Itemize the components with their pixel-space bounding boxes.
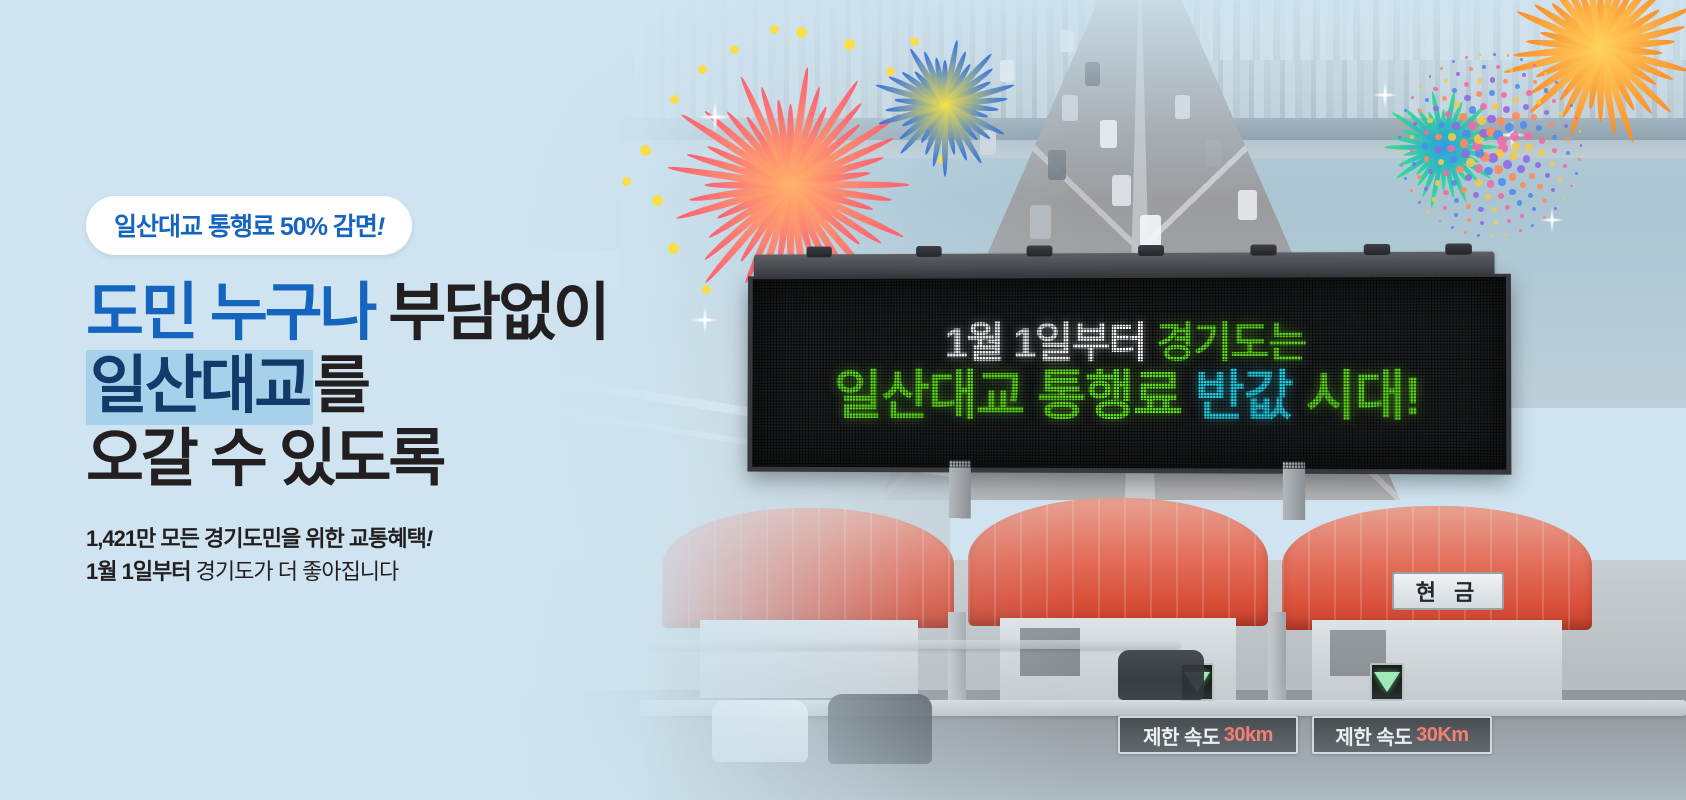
halftone-dot bbox=[1418, 201, 1421, 204]
headline-line-1-blue: 도민 누구나 bbox=[86, 278, 388, 348]
subcopy: 1,421만 모든 경기도민을 위한 교통혜택! 1월 1일부터 경기도가 더 … bbox=[86, 522, 706, 588]
headline-line-2: 일산대교를 bbox=[86, 350, 706, 423]
halftone-dot bbox=[1539, 137, 1545, 143]
page-title: 도민 누구나 부담없이 일산대교를 오갈 수 있도록 bbox=[86, 277, 706, 496]
halftone-dot bbox=[1555, 81, 1558, 84]
halftone-dot bbox=[1475, 179, 1483, 187]
halftone-dot bbox=[1422, 143, 1427, 148]
halftone-dot bbox=[1550, 161, 1555, 166]
halftone-dot bbox=[1464, 95, 1470, 101]
halftone-dot bbox=[1512, 112, 1520, 120]
halftone-dot bbox=[1503, 160, 1512, 169]
halftone-dot bbox=[1519, 229, 1522, 232]
promo-banner: 현 금 제한 속도 30km 제한 속도 30Km 일산대교 통행료 50% 감… bbox=[0, 0, 1686, 800]
halftone-dot bbox=[1497, 117, 1506, 126]
subcopy-line-2-rest: 경기도가 더 좋아집니다 bbox=[191, 559, 399, 584]
halftone-dot bbox=[1427, 118, 1432, 123]
headline-highlight-bridge: 일산대교 bbox=[86, 350, 313, 425]
billboard-lamp bbox=[806, 246, 831, 257]
halftone-dot bbox=[1475, 164, 1484, 173]
halftone-dot bbox=[1505, 123, 1514, 132]
headline-line-1-ink: 부담없이 bbox=[388, 278, 607, 348]
halftone-dot bbox=[1435, 180, 1440, 185]
promo-badge: 일산대교 통행료 50% 감면! bbox=[86, 196, 412, 255]
headline-line-2-particle: 를 bbox=[313, 351, 368, 421]
halftone-dot bbox=[1465, 56, 1468, 59]
halftone-dot bbox=[1522, 73, 1526, 77]
halftone-dot bbox=[1466, 158, 1475, 167]
halftone-dot bbox=[1525, 144, 1533, 152]
halftone-dot bbox=[1438, 159, 1444, 165]
billboard-screen: 1월 1일부터 경기도는 일산대교 통행료 반값 시대! bbox=[747, 274, 1511, 475]
halftone-dot bbox=[1461, 149, 1470, 158]
halftone-dot bbox=[1435, 134, 1441, 140]
halftone-dot bbox=[1451, 226, 1454, 229]
halftone-dot bbox=[1559, 111, 1563, 115]
billboard-line-1-green: 경기도는 bbox=[1156, 319, 1306, 366]
halftone-dot bbox=[1564, 124, 1568, 128]
subcopy-line-2: 1월 1일부터 경기도가 더 좋아집니다 bbox=[86, 555, 706, 588]
subcopy-line-1-emphasis: ! bbox=[426, 526, 432, 551]
headline-line-3: 오갈 수 있도록 bbox=[86, 423, 706, 496]
halftone-dot bbox=[1443, 190, 1448, 195]
halftone-dot bbox=[1529, 173, 1535, 179]
confetti-dot bbox=[910, 37, 919, 46]
halftone-dot bbox=[1517, 165, 1525, 173]
halftone-dot bbox=[1493, 53, 1496, 56]
halftone-dot bbox=[1512, 142, 1521, 151]
halftone-dot bbox=[1419, 85, 1422, 88]
halftone-dot bbox=[1517, 200, 1522, 205]
halftone-dot bbox=[1468, 121, 1477, 130]
halftone-dot bbox=[1538, 150, 1544, 156]
billboard-lamp bbox=[1138, 245, 1164, 256]
confetti-dot bbox=[622, 177, 631, 186]
halftone-dot bbox=[1520, 58, 1523, 61]
promo-badge-text: 일산대교 통행료 50% 감면 bbox=[114, 213, 377, 241]
halftone-dot bbox=[1477, 78, 1482, 83]
halftone-dot bbox=[1566, 137, 1570, 141]
halftone-dot bbox=[1433, 106, 1438, 111]
halftone-dot bbox=[1444, 79, 1448, 83]
halftone-dot bbox=[1498, 178, 1506, 186]
subcopy-line-1-text: 1,421만 모든 경기도민을 위한 교통혜택 bbox=[86, 526, 426, 551]
promo-badge-emphasis: ! bbox=[377, 213, 384, 241]
billboard-lamp bbox=[1250, 244, 1276, 255]
led-billboard: 1월 1일부터 경기도는 일산대교 통행료 반값 시대! bbox=[747, 252, 1501, 478]
billboard-lamp bbox=[1445, 244, 1472, 255]
halftone-dot bbox=[1466, 204, 1471, 209]
halftone-dot bbox=[1433, 87, 1437, 91]
halftone-dot bbox=[1513, 97, 1519, 103]
sparkle-right-b bbox=[1534, 202, 1570, 238]
halftone-dot bbox=[1404, 177, 1407, 180]
halftone-dot bbox=[1398, 136, 1401, 139]
halftone-dot bbox=[1398, 150, 1401, 153]
halftone-dot bbox=[1544, 72, 1547, 75]
halftone-dot bbox=[1487, 115, 1496, 124]
halftone-dot bbox=[1400, 164, 1403, 167]
halftone-dot bbox=[1520, 121, 1528, 129]
halftone-dot bbox=[1505, 233, 1508, 236]
headline-line-1: 도민 누구나 부담없이 bbox=[86, 277, 706, 350]
halftone-dot bbox=[1509, 189, 1515, 195]
billboard-line-1: 1월 1일부터 경기도는 bbox=[945, 322, 1306, 365]
halftone-dot bbox=[1524, 132, 1532, 140]
halftone-dot bbox=[1544, 88, 1548, 92]
halftone-dot bbox=[1435, 146, 1441, 152]
halftone-dot bbox=[1478, 207, 1483, 212]
subcopy-line-2-bold: 1월 1일부터 bbox=[86, 559, 191, 584]
billboard-line-2-green-a: 일산대교 통행료 bbox=[834, 366, 1182, 426]
halftone-dot bbox=[1494, 165, 1503, 174]
halftone-dot bbox=[1440, 67, 1443, 70]
billboard-line-2-green-b: 시대! bbox=[1306, 366, 1421, 427]
halftone-dot bbox=[1448, 133, 1456, 141]
halftone-dot bbox=[1425, 98, 1429, 102]
halftone-dot bbox=[1537, 184, 1542, 189]
halftone-dot bbox=[1509, 173, 1517, 181]
subcopy-line-1: 1,421만 모든 경기도민을 위한 교통혜택! bbox=[86, 522, 706, 555]
confetti-dot bbox=[886, 67, 895, 76]
halftone-dot bbox=[1452, 122, 1460, 130]
halftone-dot bbox=[1536, 99, 1541, 104]
confetti-dot bbox=[770, 25, 779, 34]
halftone-dot bbox=[1509, 68, 1513, 72]
billboard-lamp bbox=[1027, 245, 1053, 256]
billboard-support-right bbox=[1283, 462, 1305, 521]
confetti-dot bbox=[640, 145, 651, 156]
halftone-dot bbox=[1447, 145, 1455, 153]
confetti-dot bbox=[698, 65, 707, 74]
billboard-line-2-cyan: 반값 bbox=[1195, 366, 1292, 426]
halftone-dot bbox=[1459, 113, 1467, 121]
halftone-dot bbox=[1424, 187, 1428, 191]
halftone-dot bbox=[1566, 151, 1570, 155]
halftone-dot bbox=[1533, 64, 1536, 67]
halftone-dot bbox=[1450, 156, 1458, 164]
halftone-dot bbox=[1563, 92, 1566, 95]
halftone-dot bbox=[1413, 122, 1417, 126]
confetti-dot bbox=[844, 39, 855, 50]
copy-block: 일산대교 통행료 50% 감면! 도민 누구나 부담없이 일산대교를 오갈 수 … bbox=[86, 196, 706, 588]
halftone-dot bbox=[1526, 90, 1531, 95]
halftone-dot bbox=[1464, 231, 1467, 234]
halftone-dot bbox=[1424, 156, 1429, 161]
halftone-dot bbox=[1542, 199, 1546, 203]
billboard-lamp bbox=[1364, 244, 1390, 255]
halftone-dot bbox=[1575, 172, 1578, 175]
confetti-dot bbox=[796, 27, 807, 38]
halftone-dot bbox=[1523, 155, 1531, 163]
halftone-dot bbox=[1554, 207, 1557, 210]
billboard-line-1-white: 1월 1일부터 bbox=[945, 319, 1146, 366]
halftone-dot bbox=[1510, 132, 1519, 141]
halftone-dot bbox=[1456, 72, 1460, 76]
halftone-dot bbox=[1479, 53, 1482, 56]
billboard-line-2: 일산대교 통행료 반값 시대! bbox=[834, 369, 1421, 425]
confetti-dot bbox=[670, 95, 679, 104]
billboard-support-left bbox=[949, 460, 971, 518]
halftone-dot bbox=[1456, 166, 1464, 174]
sparkle-mid bbox=[1366, 76, 1404, 114]
halftone-dot bbox=[1494, 221, 1498, 225]
halftone-dot bbox=[1477, 116, 1486, 125]
billboard-lamp bbox=[916, 246, 942, 257]
halftone-dot bbox=[1432, 197, 1436, 201]
halftone-dot bbox=[1462, 130, 1471, 139]
halftone-dot bbox=[1490, 77, 1495, 82]
halftone-dot bbox=[1492, 103, 1500, 111]
halftone-dot bbox=[1487, 180, 1495, 188]
halftone-dot bbox=[1498, 193, 1504, 199]
confetti-dot bbox=[730, 45, 739, 54]
sparkle-left bbox=[692, 94, 738, 140]
halftone-dot bbox=[1531, 114, 1537, 120]
